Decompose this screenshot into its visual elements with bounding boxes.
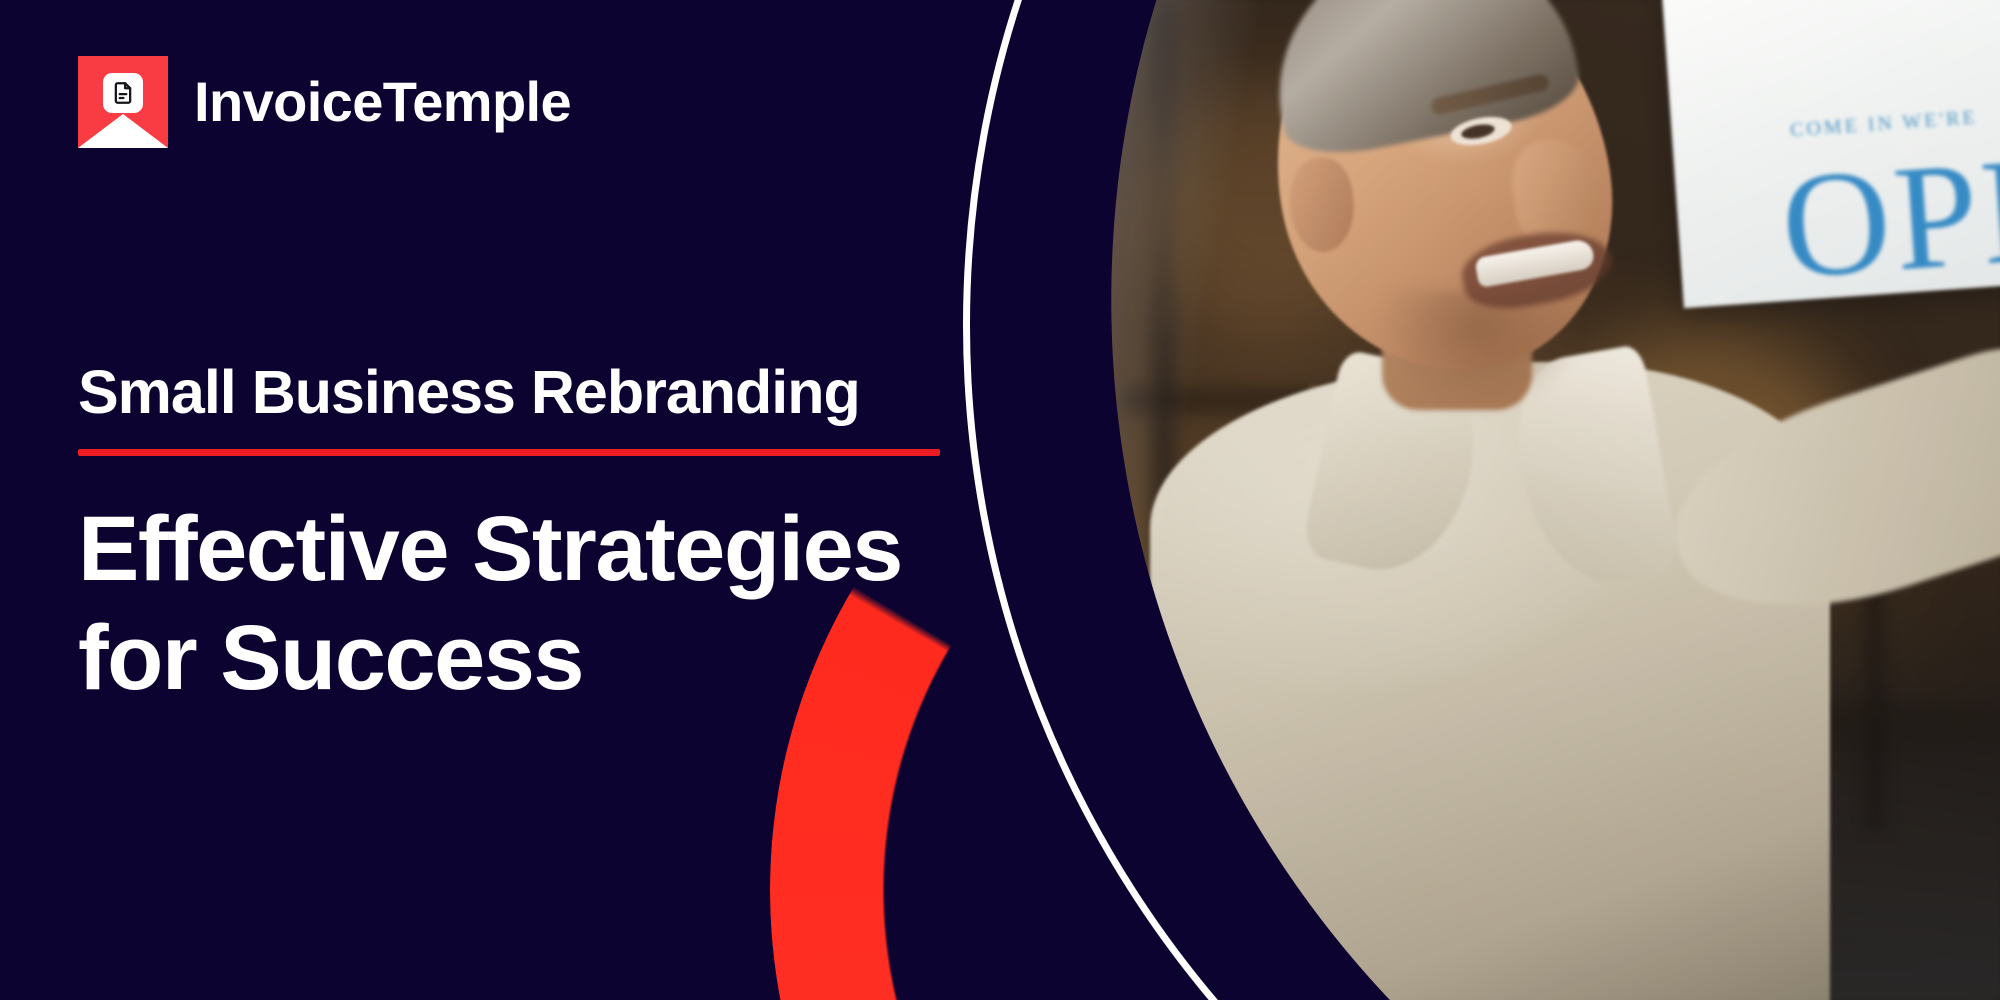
brand-lockup[interactable]: InvoiceTemple <box>78 56 571 148</box>
red-divider-rule <box>78 449 940 456</box>
brand-logo-icon[interactable] <box>78 56 168 148</box>
page-title: Effective Strategies for Success <box>78 495 1008 712</box>
eyebrow-text: Small Business Rebranding <box>78 360 968 425</box>
headline-line-2: for Success <box>78 604 1008 713</box>
white-ring-outline <box>963 0 2000 1000</box>
promo-banner: COME IN WE'RE OPE <box>0 0 2000 1000</box>
eyebrow-block: Small Business Rebranding <box>78 360 968 456</box>
headline-line-1: Effective Strategies <box>78 495 1008 604</box>
brand-name: InvoiceTemple <box>194 74 571 130</box>
chevron-roof-icon <box>78 114 168 148</box>
document-icon <box>103 73 143 113</box>
